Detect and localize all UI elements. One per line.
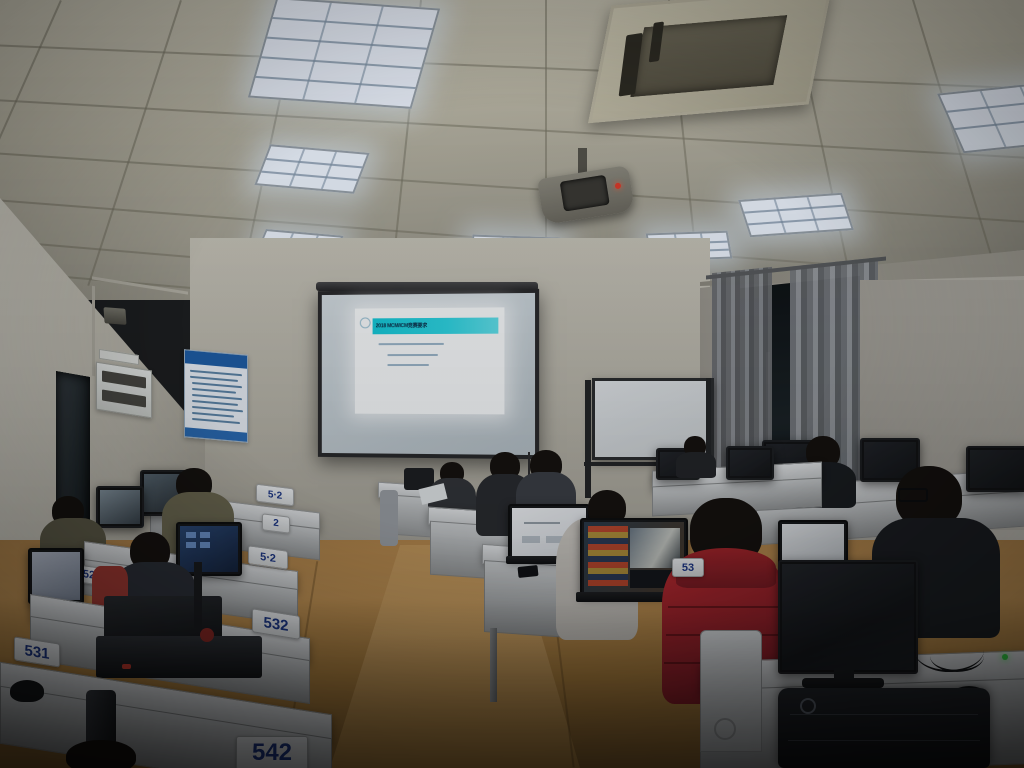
bag-logo bbox=[800, 698, 816, 714]
projector bbox=[540, 172, 632, 218]
student-laptop[interactable] bbox=[176, 522, 242, 576]
desktop-monitor[interactable] bbox=[726, 446, 774, 480]
equipment-led bbox=[122, 664, 131, 669]
equipment-box bbox=[96, 636, 262, 678]
cassette-air-conditioner bbox=[588, 0, 832, 123]
smartphone[interactable] bbox=[517, 565, 538, 578]
projector-lens bbox=[560, 175, 610, 212]
projector-power-led bbox=[615, 182, 622, 189]
wall-conduit-vertical bbox=[92, 286, 95, 376]
cable bbox=[930, 640, 984, 672]
cable-grommet bbox=[714, 718, 736, 740]
presentation-slide: 2018 MCM/ICM竞赛要求 bbox=[355, 308, 504, 415]
person-body bbox=[676, 452, 716, 478]
device-handle[interactable] bbox=[200, 628, 214, 642]
monitor-stand-base bbox=[802, 678, 884, 688]
slide-logo-icon bbox=[360, 317, 371, 328]
slide-title-bar: 2018 MCM/ICM竞赛要求 bbox=[373, 317, 499, 334]
projector-ceiling-mount bbox=[578, 148, 587, 174]
power-led bbox=[1002, 654, 1008, 660]
projection-screen: 2018 MCM/ICM竞赛要求 bbox=[318, 289, 539, 459]
poster-header bbox=[185, 350, 247, 368]
desktop-monitor[interactable] bbox=[778, 560, 918, 674]
whiteboard-stand-left bbox=[585, 380, 591, 498]
monitor-arm bbox=[194, 562, 202, 628]
light-fixture-right bbox=[738, 193, 854, 238]
computer-mouse[interactable] bbox=[10, 680, 44, 702]
slide-title: 2018 MCM/ICM竞赛要求 bbox=[373, 322, 427, 329]
projection-screen-surface: 2018 MCM/ICM竞赛要求 bbox=[322, 293, 535, 455]
desk-leg bbox=[490, 628, 497, 702]
classroom-photo: 2018 MCM/ICM竞赛要求 bbox=[0, 0, 1024, 768]
projector-body bbox=[537, 165, 635, 225]
jacket-quilt-seam bbox=[668, 606, 782, 608]
person-head bbox=[66, 740, 136, 768]
laptop-bag[interactable] bbox=[778, 688, 990, 768]
light-fixture-front-left bbox=[248, 0, 440, 109]
eyeglasses-icon bbox=[898, 488, 928, 502]
desk-plate-h: 53 bbox=[672, 558, 704, 577]
desk-plate-g: 542 bbox=[236, 736, 308, 768]
desktop-monitor[interactable] bbox=[96, 486, 144, 528]
wall-notice-poster bbox=[184, 349, 248, 443]
light-fixture-mid-left bbox=[254, 144, 369, 194]
desktop-monitor[interactable] bbox=[966, 446, 1024, 492]
thermos-bottle[interactable] bbox=[86, 690, 116, 746]
wall-air-conditioner bbox=[96, 362, 152, 419]
desk-plate-b: 2 bbox=[262, 513, 290, 533]
wall-speaker bbox=[103, 307, 126, 325]
jacket-on-chair bbox=[380, 490, 398, 546]
